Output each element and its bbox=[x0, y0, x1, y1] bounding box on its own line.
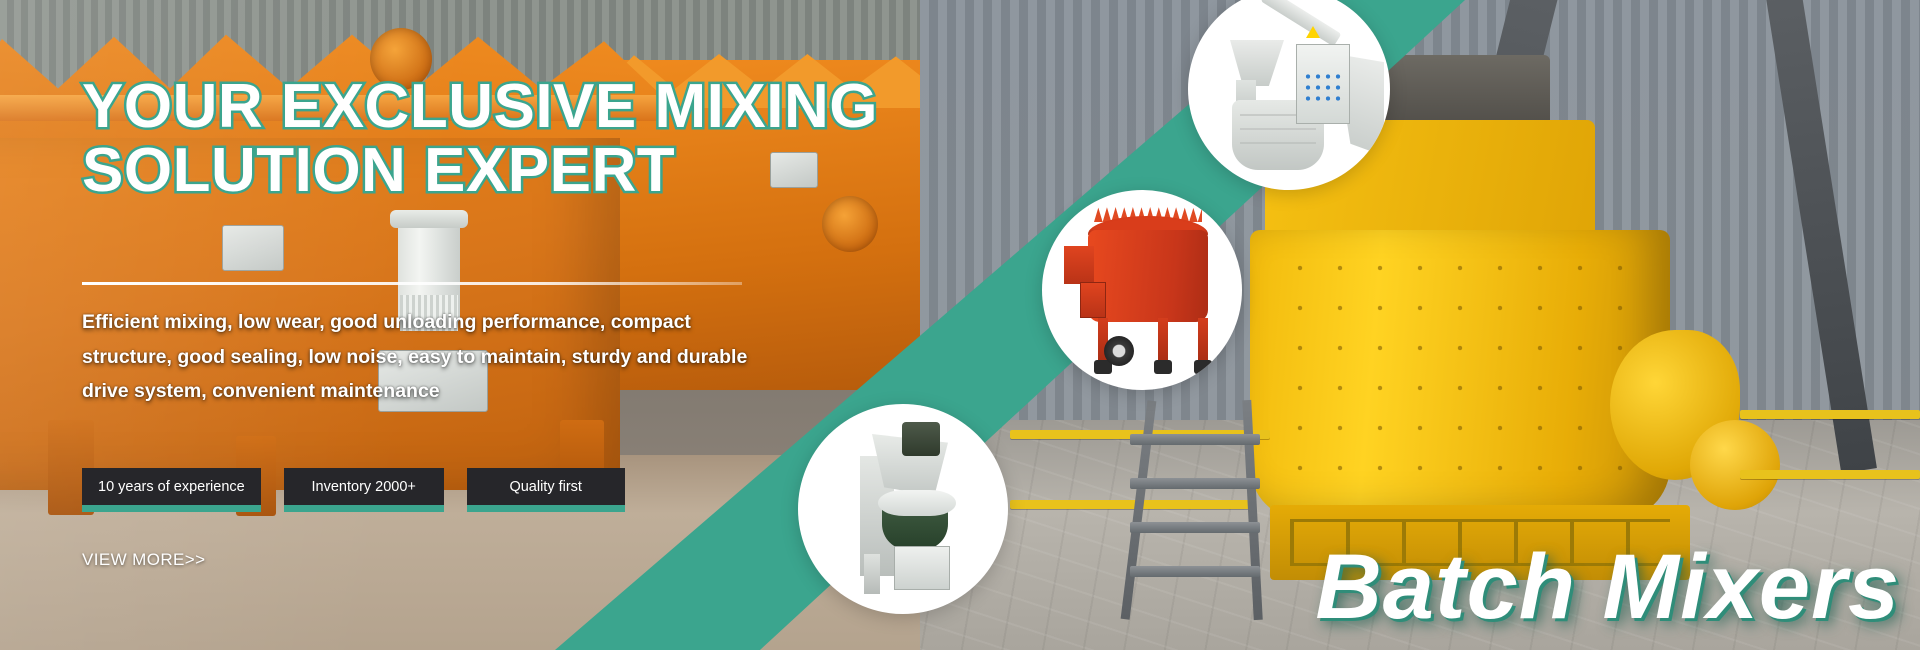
product-circle-pan-mixer bbox=[1042, 190, 1242, 390]
mixer-drive-motor bbox=[1690, 420, 1780, 510]
headline-line-1: YOUR EXCLUSIVE MIXING bbox=[82, 72, 878, 141]
safety-rail-3 bbox=[1740, 410, 1920, 419]
ladder-step bbox=[1130, 566, 1260, 577]
mixer-control-box-a bbox=[222, 225, 284, 271]
planetary-mixer-arm bbox=[1261, 0, 1342, 47]
pan-mixer-foot bbox=[1194, 360, 1212, 374]
product-circle-vertical-mixer bbox=[798, 404, 1008, 614]
product-hero-banner: YOUR EXCLUSIVE MIXING SOLUTION EXPERT Ef… bbox=[0, 0, 1920, 650]
mixer-flange-b bbox=[822, 196, 878, 252]
page-title: YOUR EXCLUSIVE MIXING SOLUTION EXPERT bbox=[82, 75, 982, 203]
headline-line-2: SOLUTION EXPERT bbox=[82, 139, 982, 203]
yellow-twin-shaft-mixer bbox=[1250, 230, 1670, 520]
title-divider-rule bbox=[82, 282, 742, 285]
safety-rail-4 bbox=[1740, 470, 1920, 479]
feature-badge-group: 10 years of experience Inventory 2000+ Q… bbox=[82, 468, 625, 505]
vertical-mixer-base-cabinet bbox=[894, 546, 950, 590]
description-text: Efficient mixing, low wear, good unloadi… bbox=[82, 305, 772, 409]
product-wordmark: Batch Mixers bbox=[1315, 535, 1900, 640]
pan-mixer-drum bbox=[1088, 230, 1208, 322]
badge-quality[interactable]: Quality first bbox=[467, 468, 625, 505]
pan-mixer-leg bbox=[1198, 318, 1208, 362]
ladder-step bbox=[1130, 478, 1260, 489]
access-ladder bbox=[1120, 400, 1280, 620]
ladder-step bbox=[1130, 522, 1260, 533]
pan-mixer-foot bbox=[1154, 360, 1172, 374]
vertical-mixer-leg bbox=[864, 554, 880, 594]
badge-inventory[interactable]: Inventory 2000+ bbox=[284, 468, 444, 505]
pan-mixer-leg bbox=[1158, 318, 1168, 362]
view-more-link[interactable]: VIEW MORE>> bbox=[82, 550, 205, 570]
ladder-step bbox=[1130, 434, 1260, 445]
planetary-mixer-control-panel bbox=[1296, 44, 1350, 124]
ladder-rail-right bbox=[1242, 400, 1263, 620]
badge-experience[interactable]: 10 years of experience bbox=[82, 468, 261, 505]
pan-mixer-wheel bbox=[1104, 336, 1134, 366]
vertical-mixer-motor bbox=[902, 422, 940, 456]
pan-mixer-control-box bbox=[1080, 282, 1106, 318]
pan-mixer-motor-box bbox=[1064, 246, 1094, 284]
vertical-mixer-lid bbox=[878, 490, 956, 516]
warning-triangle-icon bbox=[1306, 26, 1320, 38]
